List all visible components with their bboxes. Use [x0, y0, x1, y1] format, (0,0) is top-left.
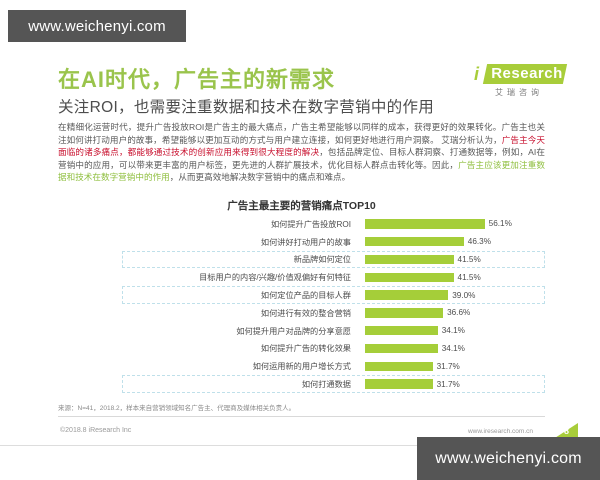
chart-bar-wrap: 34.1% — [365, 322, 545, 340]
chart-value-label: 41.5% — [458, 273, 481, 282]
chart-source-note: 来源：N=41，2018.2，样本来自营销领域知名广告主、代理商及媒体相关负责人… — [58, 402, 295, 412]
paragraph-2-pre: 艾瑞分析认为， — [441, 135, 502, 145]
bar-chart-plot: 如何提升广告投放ROI56.1%如何讲好打动用户的故事46.3%新品牌如何定位4… — [58, 215, 545, 393]
chart-bar — [365, 379, 433, 389]
logo-wordmark: Research — [487, 64, 567, 84]
chart-bar — [365, 255, 454, 265]
chart-value-label: 39.0% — [452, 291, 475, 300]
chart-row: 如何提升用户对品牌的分享意愿34.1% — [58, 322, 545, 340]
chart-bar-wrap: 56.1% — [365, 215, 545, 233]
chart-row: 如何定位产品的目标人群39.0% — [58, 286, 545, 304]
page-subtitle: 关注ROI，也需要注重数据和技术在数字营销中的作用 — [58, 95, 434, 117]
chart-bar-wrap: 46.3% — [365, 233, 545, 251]
chart-row: 新品牌如何定位41.5% — [58, 251, 545, 269]
watermark-top: www.weichenyi.com — [8, 10, 186, 42]
chart-value-label: 34.1% — [442, 326, 465, 335]
chart-category-label: 如何打通数据 — [58, 375, 358, 393]
iresearch-logo: i Research 艾瑞咨询 — [463, 63, 575, 103]
paragraph-2-end: ，从而更高效地解决数字营销中的痛点和难点。 — [170, 172, 350, 182]
website-url: www.iresearch.com.cn — [468, 428, 533, 435]
chart-value-label: 34.1% — [442, 344, 465, 353]
chart-category-label: 如何提升广告的转化效果 — [58, 340, 358, 358]
chart-category-label: 如何讲好打动用户的故事 — [58, 233, 358, 251]
chart-bar — [365, 237, 464, 247]
chart-value-label: 56.1% — [489, 219, 512, 228]
page-number: 8 — [564, 426, 569, 436]
chart-bar — [365, 219, 485, 229]
chart-bar — [365, 344, 438, 354]
body-paragraph: 在精细化运营时代，提升广告投放ROI是广告主的最大痛点，广告主希望能够以同样的成… — [58, 121, 545, 184]
chart-bar — [365, 290, 448, 300]
watermark-bottom: www.weichenyi.com — [417, 437, 600, 480]
chart-bar-wrap: 41.5% — [365, 268, 545, 286]
chart-category-label: 目标用户的内容/兴趣/价值观偏好有何特征 — [58, 268, 358, 286]
chart-row: 如何讲好打动用户的故事46.3% — [58, 233, 545, 251]
slide-canvas: 在AI时代，广告主的新需求 关注ROI，也需要注重数据和技术在数字营销中的作用 … — [0, 48, 600, 438]
chart-bar-wrap: 31.7% — [365, 357, 545, 375]
logo-letter-i: i — [474, 64, 479, 84]
chart-bar — [365, 273, 454, 283]
chart-row: 如何打通数据31.7% — [58, 375, 545, 393]
chart-value-label: 41.5% — [458, 255, 481, 264]
chart-category-label: 如何进行有效的整合营销 — [58, 304, 358, 322]
chart-row: 目标用户的内容/兴趣/价值观偏好有何特征41.5% — [58, 268, 545, 286]
logo-mark: i Research — [471, 63, 563, 85]
chart-bar-wrap: 31.7% — [365, 375, 545, 393]
chart-value-label: 31.7% — [437, 380, 460, 389]
chart-bar — [365, 326, 438, 336]
chart-value-label: 31.7% — [437, 362, 460, 371]
chart-category-label: 新品牌如何定位 — [58, 251, 358, 269]
chart-bar — [365, 308, 443, 318]
chart-category-label: 如何提升用户对品牌的分享意愿 — [58, 322, 358, 340]
chart-value-label: 46.3% — [468, 237, 491, 246]
chart-row: 如何运用新的用户增长方式31.7% — [58, 357, 545, 375]
copyright-text: ©2018.8 iResearch Inc — [60, 427, 131, 434]
chart-row: 如何提升广告的转化效果34.1% — [58, 340, 545, 358]
page-title: 在AI时代，广告主的新需求 — [58, 62, 335, 94]
logo-chinese-name: 艾瑞咨询 — [473, 87, 565, 98]
chart-title: 广告主最主要的营销痛点TOP10 — [58, 198, 545, 213]
chart-category-label: 如何运用新的用户增长方式 — [58, 357, 358, 375]
chart-panel: 广告主最主要的营销痛点TOP10 如何提升广告投放ROI56.1%如何讲好打动用… — [58, 198, 545, 396]
chart-bar-wrap: 39.0% — [365, 286, 545, 304]
footer-divider — [58, 416, 545, 417]
chart-row: 如何进行有效的整合营销36.6% — [58, 304, 545, 322]
chart-bar-wrap: 36.6% — [365, 304, 545, 322]
chart-bar-wrap: 41.5% — [365, 251, 545, 269]
chart-bar-wrap: 34.1% — [365, 340, 545, 358]
chart-bar — [365, 362, 433, 372]
chart-category-label: 如何定位产品的目标人群 — [58, 286, 358, 304]
chart-category-label: 如何提升广告投放ROI — [58, 215, 358, 233]
chart-row: 如何提升广告投放ROI56.1% — [58, 215, 545, 233]
chart-value-label: 36.6% — [447, 308, 470, 317]
